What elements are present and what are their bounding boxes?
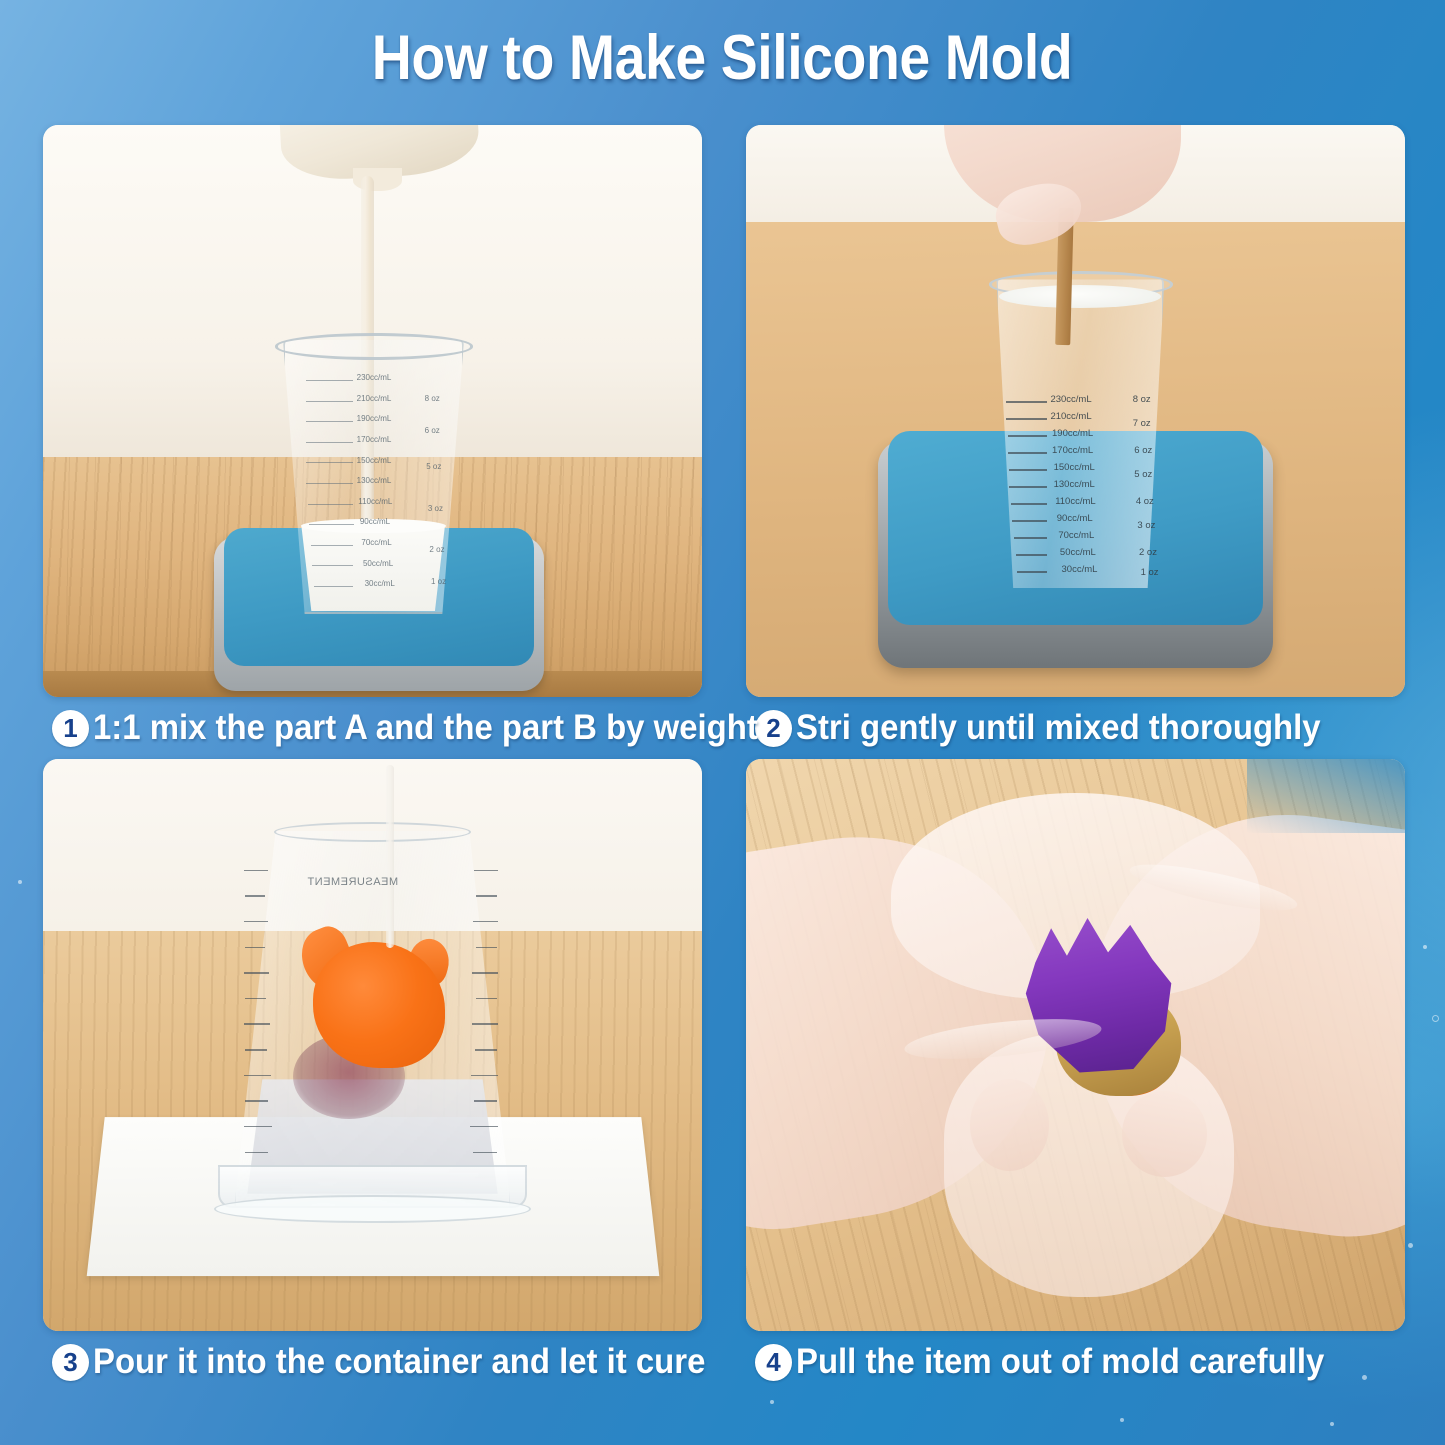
step-4-caption: 4 Pull the item out of mold carefully <box>746 1331 1405 1393</box>
step-3-photo: MEASUREMENT <box>43 759 702 1331</box>
silicone-pour-stream <box>386 765 394 948</box>
silicone-surface <box>999 285 1161 308</box>
step-caption-text: Stri gently until mixed thoroughly <box>796 708 1321 748</box>
bubble-dot <box>18 880 22 884</box>
step-1-photo: 230cc/mL 210cc/mL 190cc/mL 170cc/mL 150c… <box>43 125 702 697</box>
header: How to Make Silicone Mold <box>0 22 1445 94</box>
cup-graduation-marks: 230cc/mL 210cc/mL 190cc/mL 170cc/mL 150c… <box>1003 394 1161 583</box>
step-number-badge: 2 <box>755 710 792 747</box>
cup-graduation-marks: 230cc/mL 210cc/mL 190cc/mL 170cc/mL 150c… <box>293 371 451 600</box>
step-card-3: MEASUREMENT <box>43 759 702 1393</box>
bubble-dot <box>1330 1422 1334 1426</box>
step-2-caption: 2 Stri gently until mixed thoroughly <box>746 697 1405 759</box>
steps-row-bottom: MEASUREMENT <box>43 759 1405 1393</box>
step-caption-text: Pull the item out of mold carefully <box>796 1342 1324 1382</box>
step-caption-text: 1:1 mix the part A and the part B by wei… <box>93 708 758 748</box>
finger-left <box>970 1079 1049 1171</box>
bubble-dot <box>1120 1418 1124 1422</box>
step-3-caption: 3 Pour it into the container and let it … <box>43 1331 702 1393</box>
bottle-pour-lip <box>353 168 402 191</box>
steps-grid: 230cc/mL 210cc/mL 190cc/mL 170cc/mL 150c… <box>43 125 1405 1393</box>
bubble-dot <box>1408 1243 1413 1248</box>
cup-graduation-marks-right <box>458 851 498 1171</box>
step-caption-text: Pour it into the container and let it cu… <box>93 1342 705 1382</box>
bubble-dot <box>1423 945 1427 949</box>
page-title: How to Make Silicone Mold <box>372 22 1073 94</box>
step-number-badge: 4 <box>755 1344 792 1381</box>
steps-row-top: 230cc/mL 210cc/mL 190cc/mL 170cc/mL 150c… <box>43 125 1405 759</box>
pouring-silicone-into-measuring-cup-image: 230cc/mL 210cc/mL 190cc/mL 170cc/mL 150c… <box>43 125 702 697</box>
bubble-dot <box>770 1400 774 1404</box>
cup-brand-text: MEASUREMENT <box>307 876 398 888</box>
demolding-purple-resin-item-image <box>746 759 1405 1331</box>
step-1-caption: 1 1:1 mix the part A and the part B by w… <box>43 697 702 759</box>
step-number-badge: 1 <box>52 710 89 747</box>
curing-mold-in-inverted-cup-image: MEASUREMENT <box>43 759 702 1331</box>
bubble-ring <box>1432 1015 1439 1022</box>
step-card-2: 230cc/mL 210cc/mL 190cc/mL 170cc/mL 150c… <box>746 125 1405 759</box>
step-2-photo: 230cc/mL 210cc/mL 190cc/mL 170cc/mL 150c… <box>746 125 1405 697</box>
step-card-4: 4 Pull the item out of mold carefully <box>746 759 1405 1393</box>
stirring-mixture-with-wooden-stick-image: 230cc/mL 210cc/mL 190cc/mL 170cc/mL 150c… <box>746 125 1405 697</box>
cup-graduation-marks-left <box>244 851 284 1171</box>
measuring-cup-rim <box>275 333 473 359</box>
step-4-photo <box>746 759 1405 1331</box>
step-card-1: 230cc/mL 210cc/mL 190cc/mL 170cc/mL 150c… <box>43 125 702 759</box>
step-number-badge: 3 <box>52 1344 89 1381</box>
finger-right <box>1122 1091 1208 1177</box>
cup-base-ring <box>274 822 472 842</box>
blue-corner-overlay <box>1247 759 1405 833</box>
